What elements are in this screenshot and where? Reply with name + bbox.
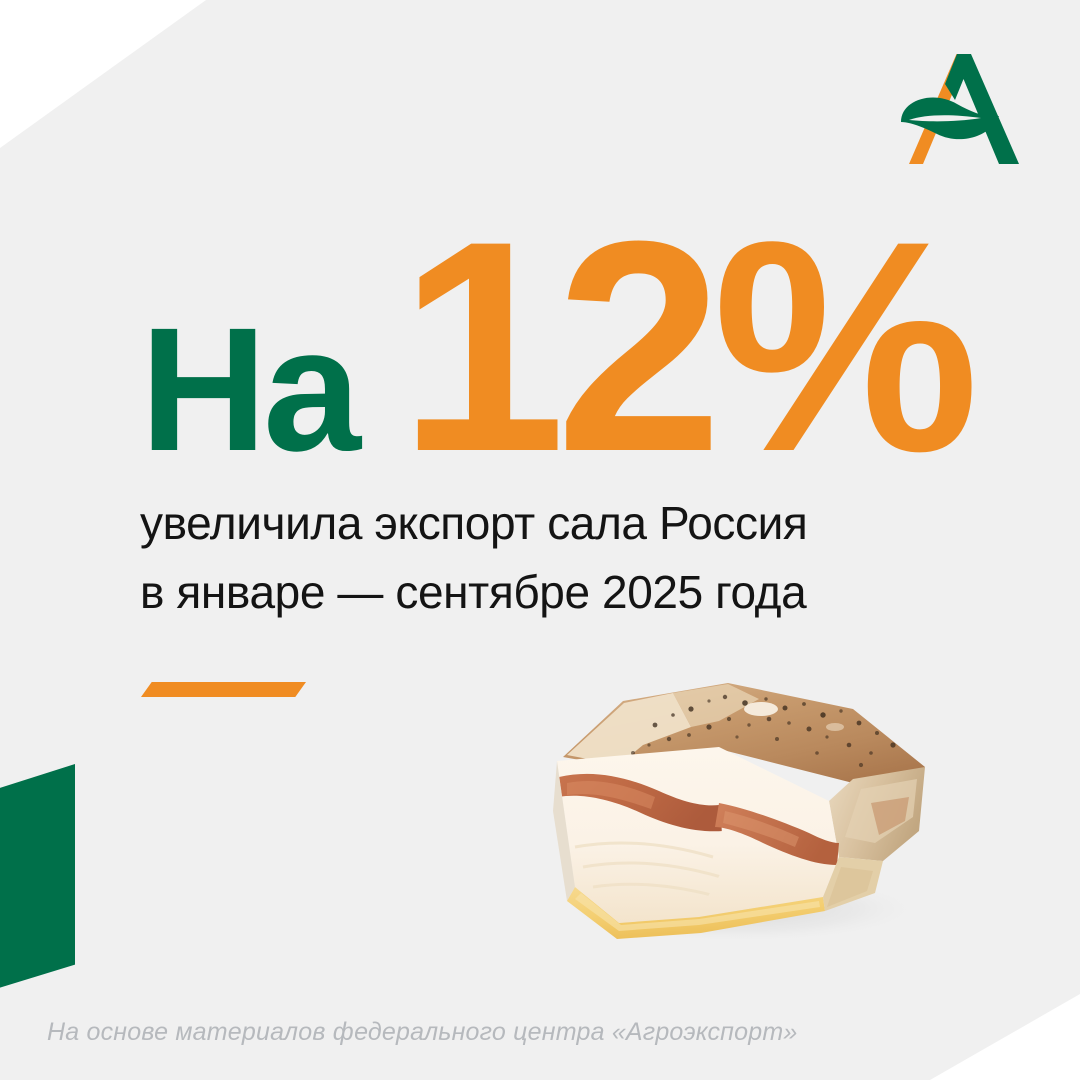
salo-pork-belly-photo (523, 661, 943, 944)
headline-value: 12% (399, 178, 969, 514)
subtitle: увеличила экспорт сала Россия в январе —… (140, 489, 807, 626)
subtitle-line-2: в январе — сентябре 2025 года (140, 558, 807, 627)
agroexport-logo (895, 52, 1023, 166)
corner-wedge-top-left (0, 0, 206, 148)
footer-credit: На основе материалов федерального центра… (47, 1018, 797, 1047)
green-accent-bar (0, 764, 75, 1000)
headline-prefix: На (140, 292, 357, 488)
orange-accent-rule (141, 682, 306, 697)
corner-wedge-bottom-right (930, 994, 1080, 1080)
headline: На12% (140, 196, 969, 496)
subtitle-line-1: увеличила экспорт сала Россия (140, 489, 807, 558)
poster-canvas: На12% увеличила экспорт сала Россия в ян… (0, 0, 1080, 1080)
